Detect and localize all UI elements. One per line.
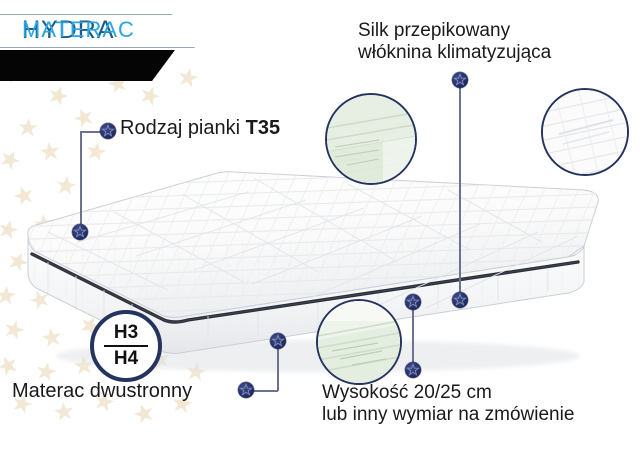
hardness-top-value: H3 <box>114 323 138 343</box>
brand-banner: HYDRA MATERAC <box>0 14 215 86</box>
star-pin-marker-icon <box>100 123 116 139</box>
callout-height: Wysokość 20/25 cm lub inny wymiar na zmó… <box>322 382 632 427</box>
leader-silk-vertical <box>459 80 461 300</box>
leader-height-vertical <box>412 300 414 370</box>
callout-silk-line1: Silk przepikowany <box>358 20 620 42</box>
star-pin-marker-icon <box>238 382 254 398</box>
callout-foam-type: Rodzaj pianki T35 <box>120 117 280 141</box>
star-pin-marker-icon <box>405 294 421 310</box>
callout-foam-type-value: T35 <box>246 117 280 139</box>
callout-height-line1: Wysokość 20/25 cm <box>322 382 632 404</box>
brand-category: MATERAC <box>22 17 135 43</box>
hardness-divider <box>104 345 148 347</box>
hardness-badge: H3 H4 <box>90 310 162 382</box>
callout-double-sided: Materac dwustronny <box>12 380 192 404</box>
callout-silk-line2: włóknina klimatyzująca <box>358 42 620 64</box>
star-pin-marker-icon <box>72 224 88 240</box>
infographic-canvas: HYDRA MATERAC <box>0 0 640 453</box>
inset-fabric-top <box>541 88 629 176</box>
star-pin-marker-icon <box>405 362 421 378</box>
callout-foam-type-prefix: Rodzaj pianki <box>120 117 246 139</box>
inset-foam-bottom <box>316 299 402 385</box>
star-pin-marker-icon <box>270 333 286 349</box>
star-pin-marker-icon <box>452 72 468 88</box>
hardness-bottom-value: H4 <box>114 349 138 369</box>
callout-silk: Silk przepikowany włóknina klimatyzująca <box>358 20 620 65</box>
callout-height-line2: lub inny wymiar na zmówienie <box>322 404 632 426</box>
star-pin-marker-icon <box>452 292 468 308</box>
brand-bottom-plate <box>0 50 175 81</box>
inset-foam-top <box>325 93 417 185</box>
leader-foam-vertical <box>80 131 82 232</box>
